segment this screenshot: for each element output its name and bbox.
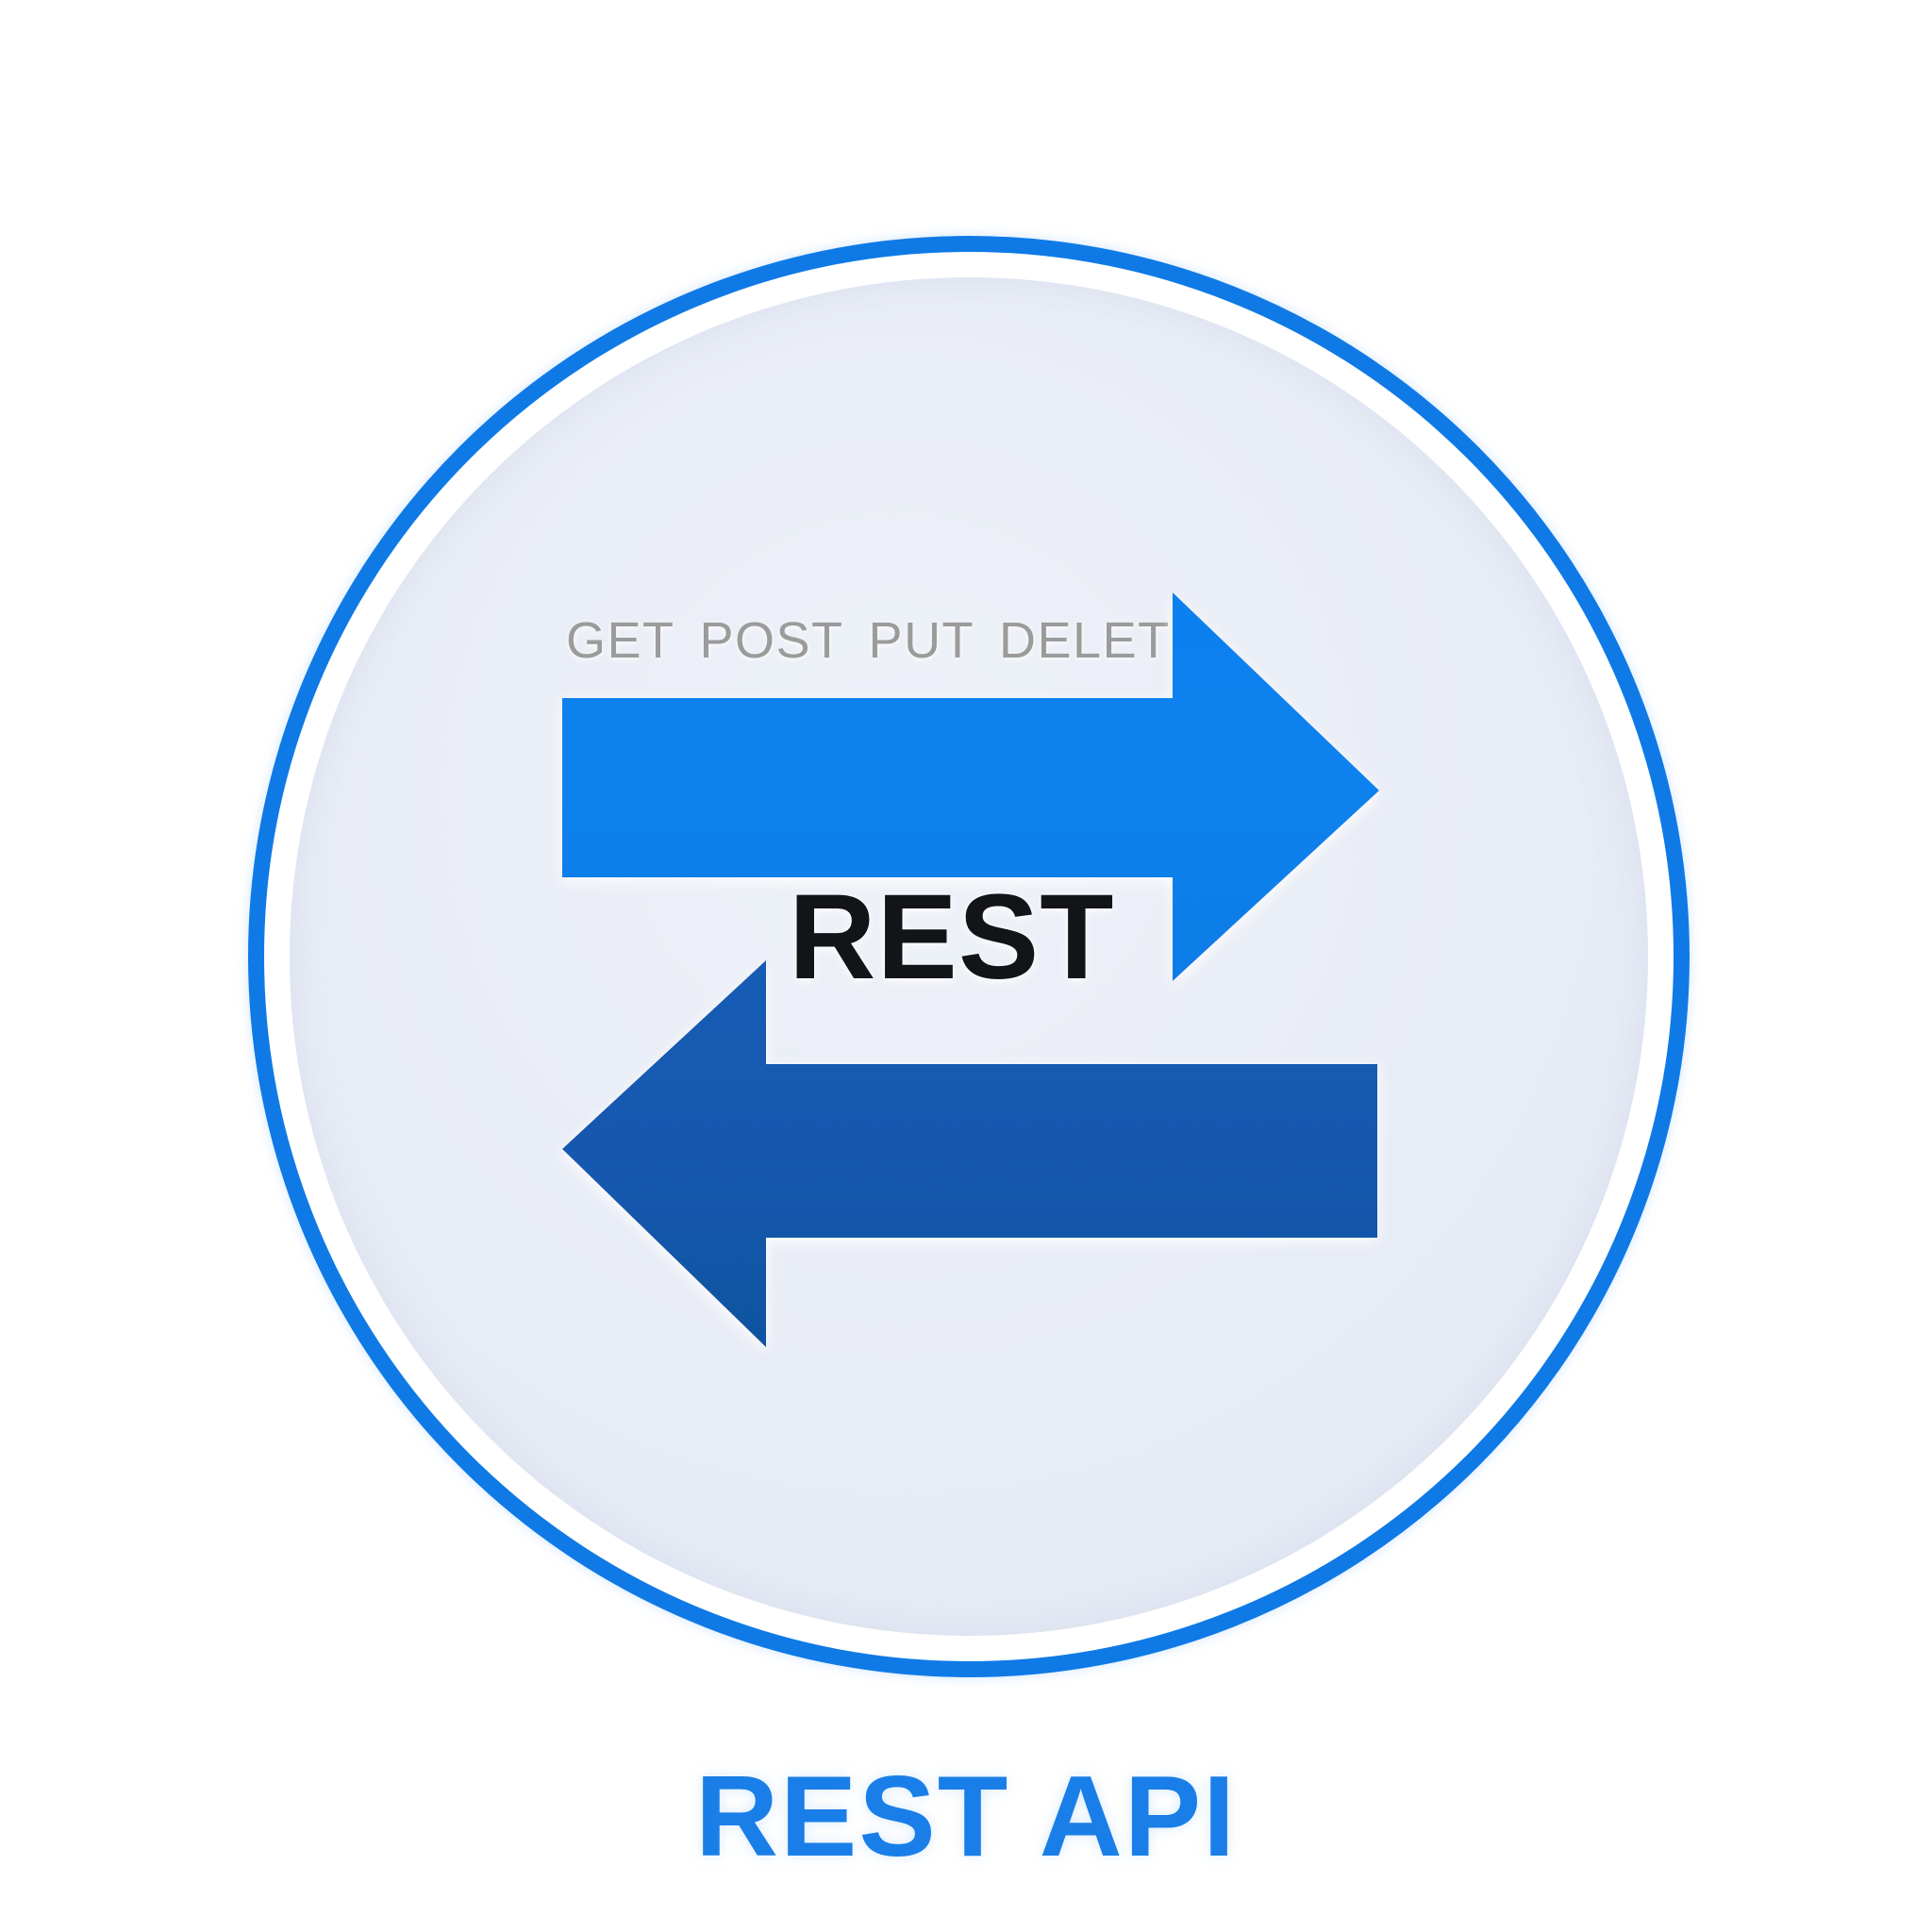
http-method-delete: DELETE [999, 611, 1206, 670]
rest-word: REST [789, 877, 1114, 998]
page-title: REST API [0, 1750, 1932, 1882]
http-method-post: POST [700, 611, 844, 670]
http-method-put: PUT [869, 611, 975, 670]
http-methods-label: GET POST PUT DELETE [566, 611, 1170, 670]
canvas: GET POST PUT DELETE [0, 0, 1932, 1932]
http-method-get: GET [566, 611, 675, 670]
